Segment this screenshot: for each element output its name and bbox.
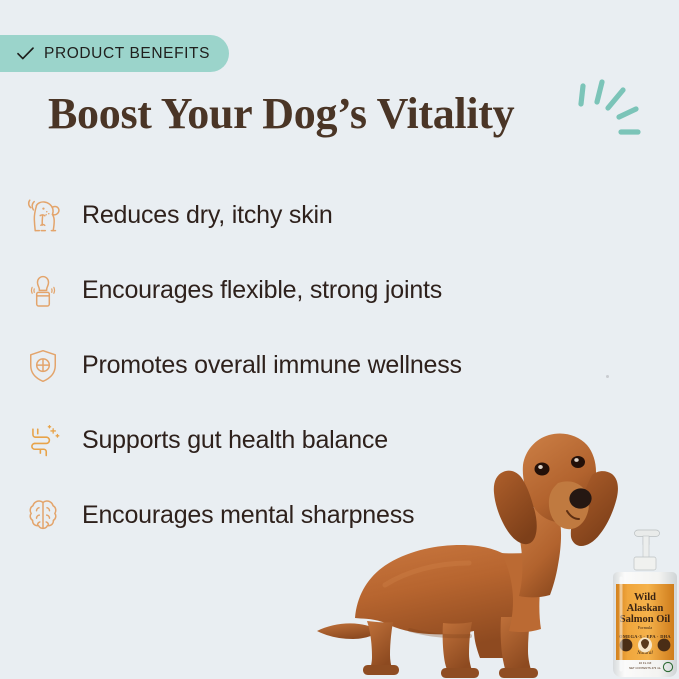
product-bottle-wild-alaskan-salmon-oil: Wild Alaskan Salmon Oil Formula OMEGA-3 … [596, 512, 678, 679]
benefit-row-skin: Reduces dry, itchy skin [22, 178, 622, 253]
benefit-row-immune: Promotes overall immune wellness [22, 328, 622, 403]
joint-bone-icon [22, 269, 64, 313]
product-benefits-badge: PRODUCT BENEFITS [0, 35, 229, 72]
product-benefits-badge-label: PRODUCT BENEFITS [44, 45, 210, 63]
svg-text:16 FL OZ: 16 FL OZ [639, 661, 652, 665]
product-benefits-infographic: PRODUCT BENEFITS Boost Your Dog’s Vitali… [0, 0, 679, 679]
page-title: Boost Your Dog’s Vitality [48, 92, 514, 136]
benefit-label: Promotes overall immune wellness [82, 351, 462, 380]
background-speck [606, 375, 609, 378]
benefit-label: Encourages flexible, strong joints [82, 276, 442, 305]
brain-icon [22, 494, 64, 538]
sparkle-lines-icon [575, 78, 653, 158]
svg-text:Wild: Wild [634, 592, 656, 603]
benefit-row-joints: Encourages flexible, strong joints [22, 253, 622, 328]
check-icon [16, 44, 35, 63]
shield-cross-icon [22, 344, 64, 388]
intestines-sparkle-icon [22, 419, 64, 463]
svg-text:Formula: Formula [638, 625, 652, 630]
benefit-label: Reduces dry, itchy skin [82, 201, 333, 230]
svg-text:NET CONTENTS 473 mL: NET CONTENTS 473 mL [629, 666, 661, 670]
svg-text:Alaskan: Alaskan [627, 603, 664, 614]
svg-text:Salmon Oil: Salmon Oil [620, 614, 671, 625]
dog-scratching-icon [22, 194, 64, 238]
